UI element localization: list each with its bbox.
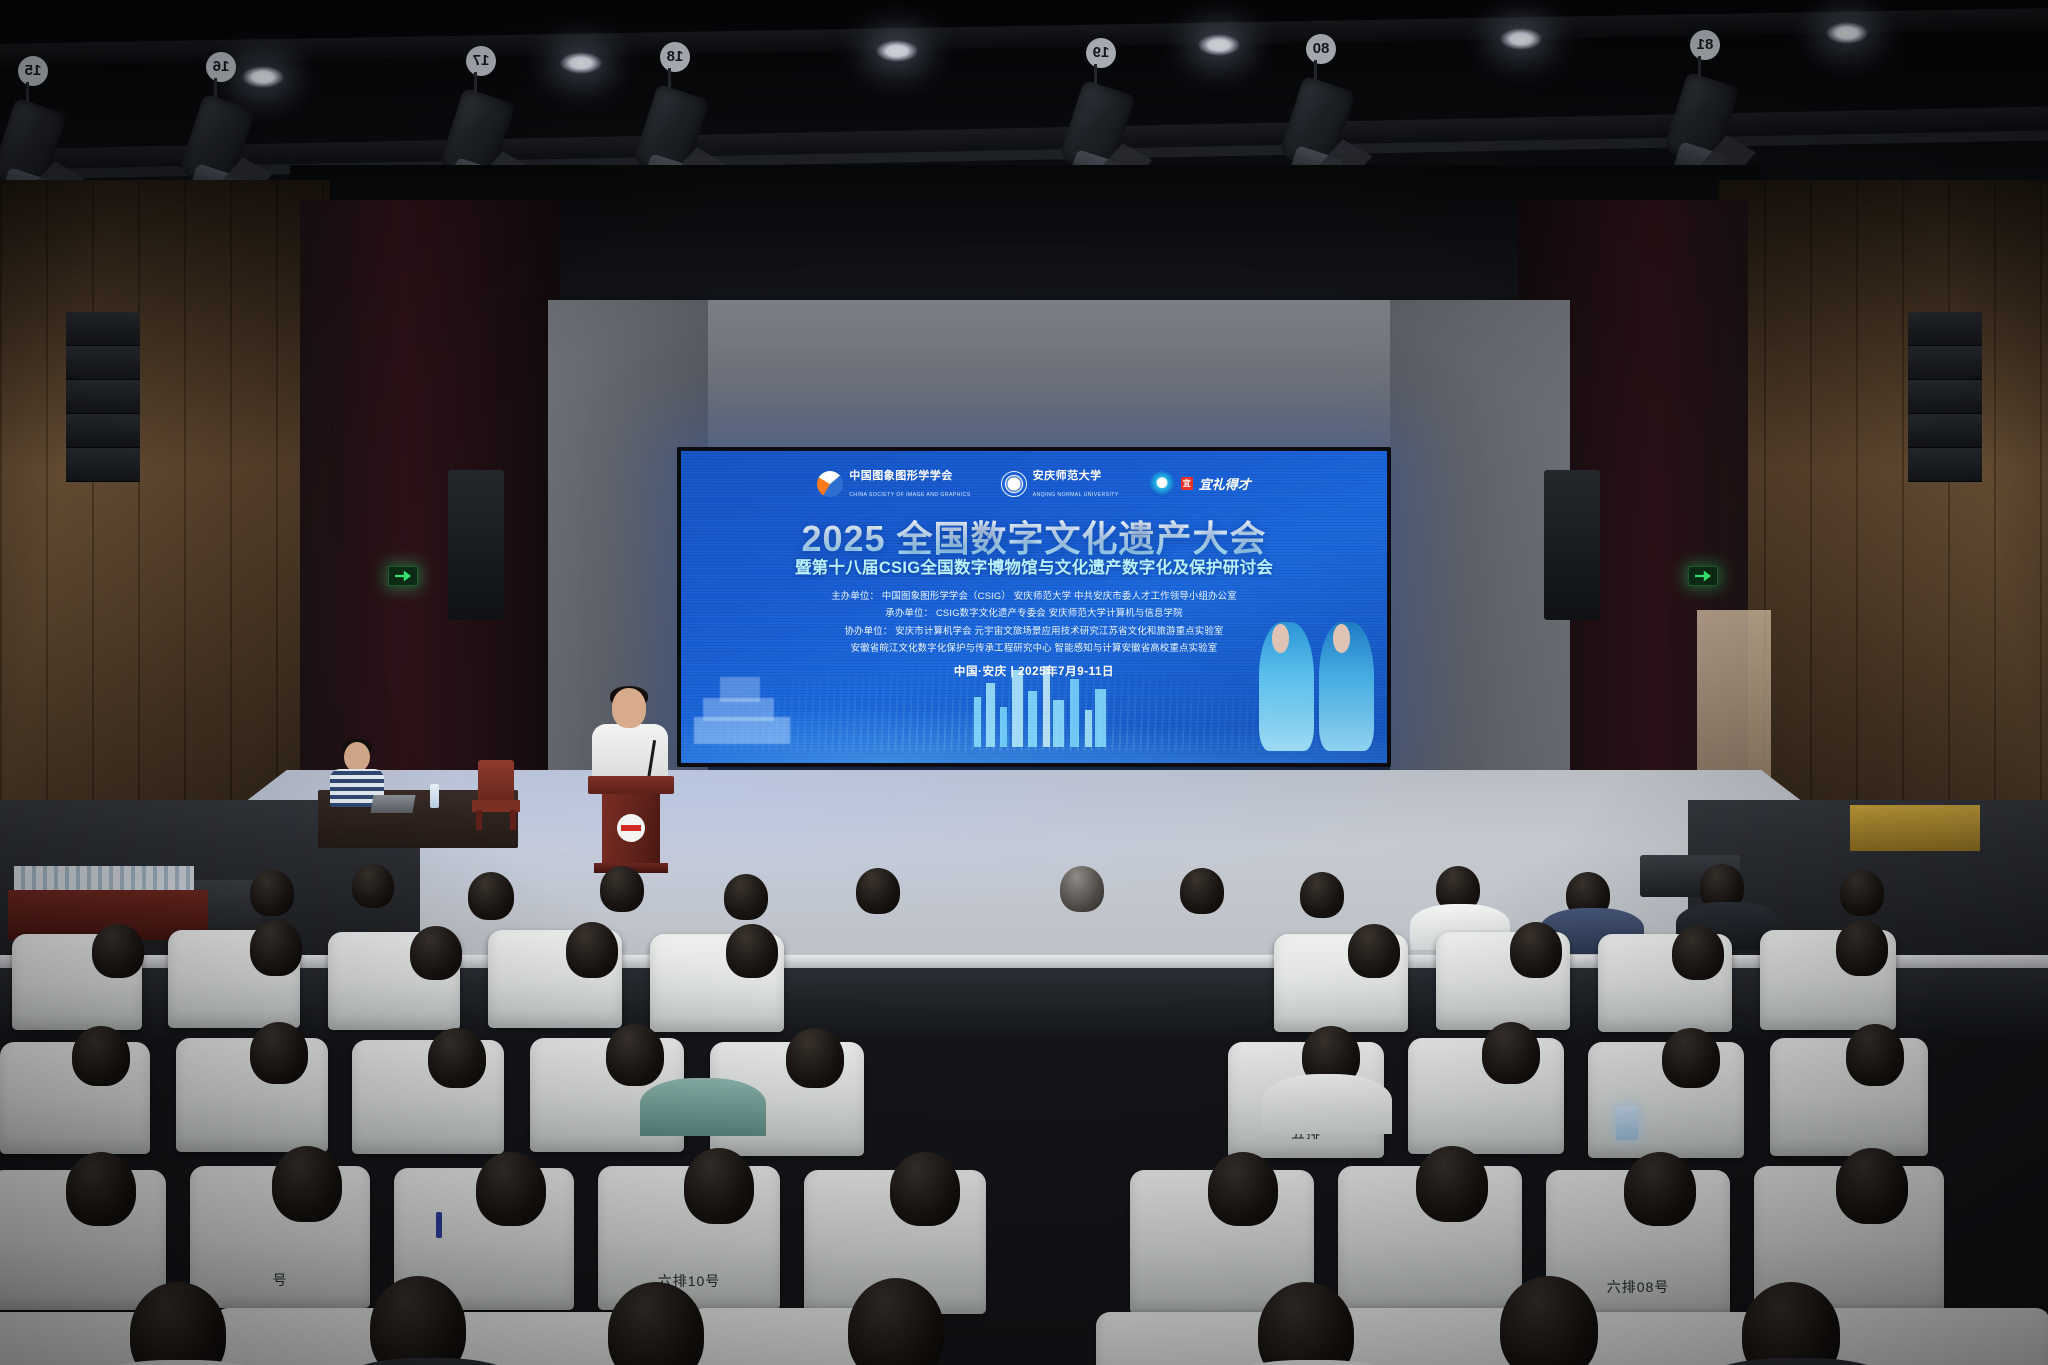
laptop <box>370 795 415 813</box>
attendee-head <box>66 1152 136 1226</box>
attendee-head <box>566 922 618 978</box>
attendee-head <box>476 1152 546 1226</box>
ceiling-downlight <box>242 66 284 88</box>
smartphone[interactable] <box>1616 1106 1638 1140</box>
attendee-head <box>410 926 462 980</box>
attendee-shoulders <box>1262 1074 1392 1134</box>
sponsor-badge: 宜 <box>1181 477 1193 490</box>
attendee-head <box>1624 1152 1696 1226</box>
attendee-head <box>684 1148 754 1224</box>
organizer-line: 主办单位： 中国图象图形学学会（CSIG） 安庆师范大学 中共安庆市委人才工作领… <box>681 587 1387 604</box>
pa-speaker-stack-right <box>1908 312 1982 482</box>
auditorium-photo: 15 16 17 18 19 80 81 <box>0 0 2048 1365</box>
attendee-head <box>856 868 900 914</box>
attendee-head <box>1416 1146 1488 1222</box>
attendee-head <box>600 866 644 912</box>
light-number-disc: 81 <box>1690 30 1720 60</box>
attendee-head <box>1662 1028 1720 1088</box>
organizer-line: 承办单位： CSIG数字文化遗产专委会 安庆师范大学计算机与信息学院 <box>681 604 1387 621</box>
sponsor-wordmark: 宜礼得才 <box>1199 474 1251 493</box>
led-presentation-screen: 中国图象图形学学会 CHINA SOCIETY OF IMAGE AND GRA… <box>677 447 1391 767</box>
speaker-head <box>612 688 646 728</box>
ceiling-downlight <box>876 40 918 62</box>
speaker-podium <box>588 776 674 873</box>
wooden-chair <box>472 760 520 828</box>
csig-logo-en: CHINA SOCIETY OF IMAGE AND GRAPHICS <box>849 492 970 498</box>
exit-sign-right <box>1688 566 1718 586</box>
logo-sponsor-third: 宜 宜礼得才 <box>1149 471 1251 497</box>
exit-running-man-icon <box>1695 571 1711 582</box>
lanyard <box>436 1212 442 1238</box>
attendee-head <box>1208 1152 1278 1226</box>
attendee-head <box>786 1028 844 1088</box>
audience-area: 五排 号 六排10号 六排08号 <box>0 860 2048 1365</box>
light-number-disc: 17 <box>466 46 496 76</box>
attendee-head <box>250 1022 308 1084</box>
light-number-disc: 18 <box>660 42 690 72</box>
attendee-head <box>1840 870 1884 916</box>
attendee-head <box>724 874 768 920</box>
exit-running-man-icon <box>395 571 411 582</box>
anqing-normal-university-logo-icon <box>1001 471 1027 497</box>
screen-logo-row: 中国图象图形学学会 CHINA SOCIETY OF IMAGE AND GRA… <box>681 467 1387 501</box>
pa-speaker-stack-left <box>66 312 140 482</box>
attendee-head <box>1060 866 1104 912</box>
conference-subtitle: 暨第十八届CSIG全国数字博物馆与文化遗产数字化及保护研讨会 <box>681 554 1387 578</box>
anu-logo-cn: 安庆师范大学 <box>1033 470 1102 482</box>
light-number-disc: 15 <box>18 56 48 86</box>
attendee-head <box>1672 926 1724 980</box>
ceiling-beam <box>0 8 2048 66</box>
light-number-disc: 19 <box>1086 38 1116 68</box>
attendee-head <box>468 872 514 920</box>
podium-emblem <box>617 814 645 842</box>
attendee-head <box>250 870 294 916</box>
logo-csig: 中国图象图形学学会 CHINA SOCIETY OF IMAGE AND GRA… <box>817 467 970 501</box>
attendee-head <box>428 1028 486 1088</box>
pa-speaker-right <box>1544 470 1600 620</box>
conference-date-location: 中国·安庆 | 2025年7月9-11日 <box>681 663 1387 679</box>
attendee-head <box>1836 1148 1908 1224</box>
organizer-line: 安徽省皖江文化数字化保护与传承工程研究中心 智能感知与计算安徽省高校重点实验室 <box>681 639 1387 656</box>
ceiling-downlight <box>1500 28 1542 50</box>
anu-logo-en: ANQING NORMAL UNIVERSITY <box>1033 492 1119 498</box>
attendee-head <box>1846 1024 1904 1086</box>
attendee-head <box>726 924 778 978</box>
organizer-block: 主办单位： 中国图象图形学学会（CSIG） 安庆师范大学 中共安庆市委人才工作领… <box>681 587 1387 657</box>
light-number-disc: 80 <box>1306 34 1336 64</box>
csig-logo-cn: 中国图象图形学学会 <box>849 470 953 482</box>
seat[interactable] <box>1820 1308 2048 1365</box>
side-table-right <box>1850 805 1980 851</box>
csig-logo-icon <box>817 471 843 497</box>
attendee-head <box>250 920 302 976</box>
attendee-shoulders <box>640 1078 766 1136</box>
attendee-head <box>1482 1022 1540 1084</box>
seat-number-label: 六排08号 <box>1607 1277 1670 1297</box>
seat-number-label: 号 <box>273 1270 288 1290</box>
ceiling-downlight <box>1826 22 1868 44</box>
attendee-head <box>1836 920 1888 976</box>
attendee-head <box>92 924 144 978</box>
logo-anqing-normal-university: 安庆师范大学 ANQING NORMAL UNIVERSITY <box>1001 467 1119 501</box>
exit-sign-left <box>388 566 418 586</box>
light-number-disc: 16 <box>206 52 236 82</box>
attendee-head <box>272 1146 342 1222</box>
attendee-head <box>606 1024 664 1086</box>
yili-decai-logo-icon <box>1149 471 1175 497</box>
water-bottle <box>430 784 439 808</box>
pa-speaker-left <box>448 470 504 620</box>
attendee-head <box>1300 872 1344 918</box>
attendee-head <box>1510 922 1562 978</box>
attendee-head <box>890 1152 960 1226</box>
attendee-head <box>72 1026 130 1086</box>
attendee-head <box>1180 868 1224 914</box>
stage-side-wall-right <box>1390 300 1570 820</box>
attendee-head <box>352 864 394 908</box>
attendee-head <box>1348 924 1400 978</box>
ceiling-downlight <box>560 52 602 74</box>
organizer-line: 协办单位： 安庆市计算机学会 元宇宙文旅场景应用技术研究江苏省文化和旅游重点实验… <box>681 622 1387 639</box>
podium-area <box>576 688 686 873</box>
ceiling-downlight <box>1198 34 1240 56</box>
